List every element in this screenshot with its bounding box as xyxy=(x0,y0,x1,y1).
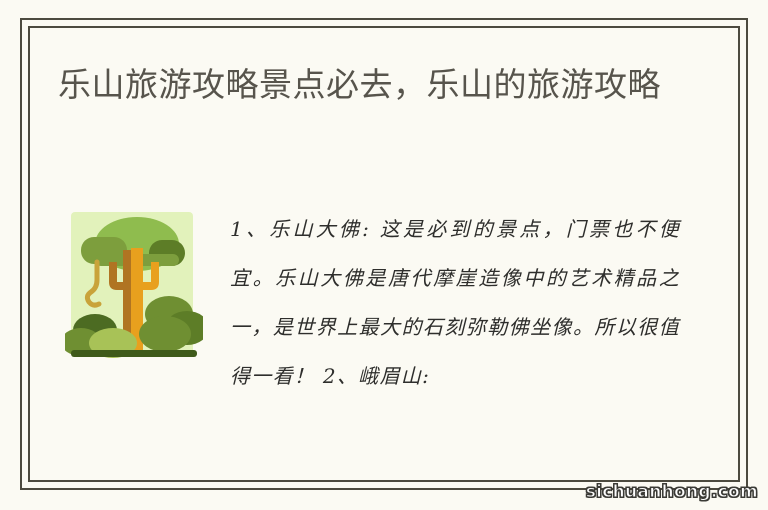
tree-illustration xyxy=(65,210,203,360)
article-content: 1、乐山大佛: 这是必到的景点，门票也不便宜。乐山大佛是唐代摩崖造像中的艺术精品… xyxy=(58,205,688,455)
site-watermark: sichuanhong.com xyxy=(586,482,758,502)
tree-illustration-graphic xyxy=(65,210,203,360)
page-title: 乐山旅游攻略景点必去，乐山的旅游攻略 xyxy=(58,60,678,110)
article-page: 乐山旅游攻略景点必去，乐山的旅游攻略 xyxy=(0,0,768,510)
article-body-text: 1、乐山大佛: 这是必到的景点，门票也不便宜。乐山大佛是唐代摩崖造像中的艺术精品… xyxy=(230,205,680,401)
